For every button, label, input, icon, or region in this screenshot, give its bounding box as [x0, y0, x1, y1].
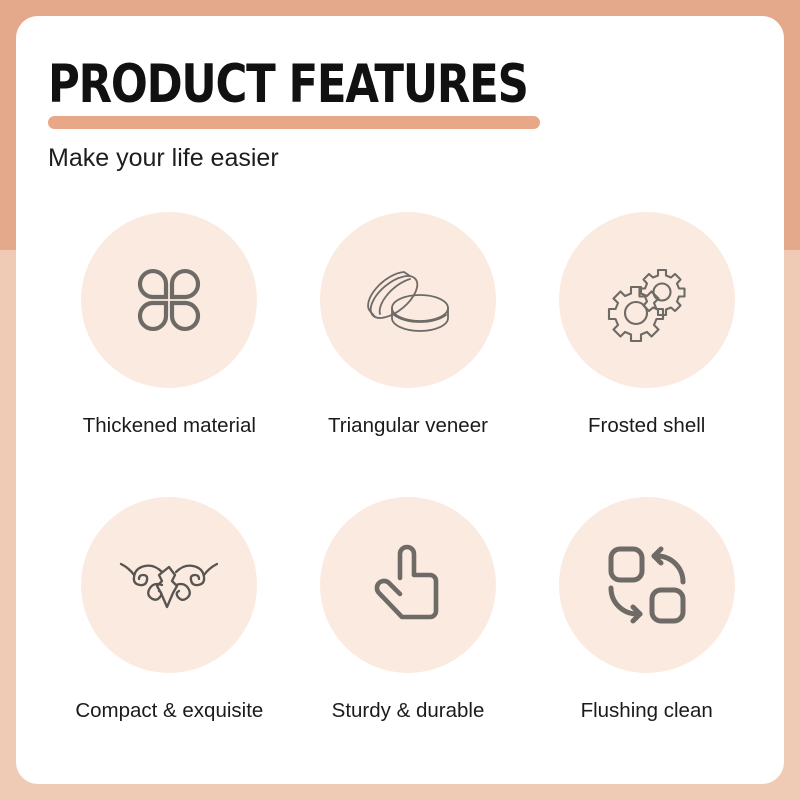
feature-icon-circle	[559, 212, 735, 388]
feature-item: Triangular veneer	[289, 212, 528, 497]
feature-label: Frosted shell	[588, 414, 705, 438]
stacked-discs-icon	[360, 259, 456, 341]
four-petal-clover-icon	[130, 261, 208, 339]
feature-label: Triangular veneer	[328, 414, 488, 438]
feature-icon-circle	[81, 497, 257, 673]
pointing-hand-icon	[371, 542, 445, 628]
title-wrap: PRODUCT FEATURES	[48, 44, 748, 106]
feature-icon-circle	[320, 497, 496, 673]
title-underline-bar	[48, 116, 540, 129]
feature-label: Thickened material	[83, 414, 256, 438]
ornamental-flourish-icon	[117, 547, 221, 623]
content-card: PRODUCT FEATURES Make your life easier	[16, 16, 784, 784]
feature-label: Compact & exquisite	[75, 699, 263, 723]
feature-item: Sturdy & durable	[289, 497, 528, 782]
header: PRODUCT FEATURES Make your life easier	[48, 44, 748, 106]
infographic-canvas: PRODUCT FEATURES Make your life easier	[0, 0, 800, 800]
feature-item: Thickened material	[50, 212, 289, 497]
features-grid: Thickened material	[50, 212, 766, 782]
gears-icon	[603, 256, 691, 344]
feature-label: Sturdy & durable	[332, 699, 485, 723]
feature-label: Flushing clean	[581, 699, 713, 723]
page-subtitle: Make your life easier	[48, 144, 279, 173]
feature-icon-circle	[81, 212, 257, 388]
feature-icon-circle	[320, 212, 496, 388]
feature-item: Frosted shell	[527, 212, 766, 497]
page-title: PRODUCT FEATURES	[48, 56, 528, 114]
feature-item: Compact & exquisite	[50, 497, 289, 782]
swap-arrows-icon	[604, 542, 690, 628]
feature-item: Flushing clean	[527, 497, 766, 782]
feature-icon-circle	[559, 497, 735, 673]
